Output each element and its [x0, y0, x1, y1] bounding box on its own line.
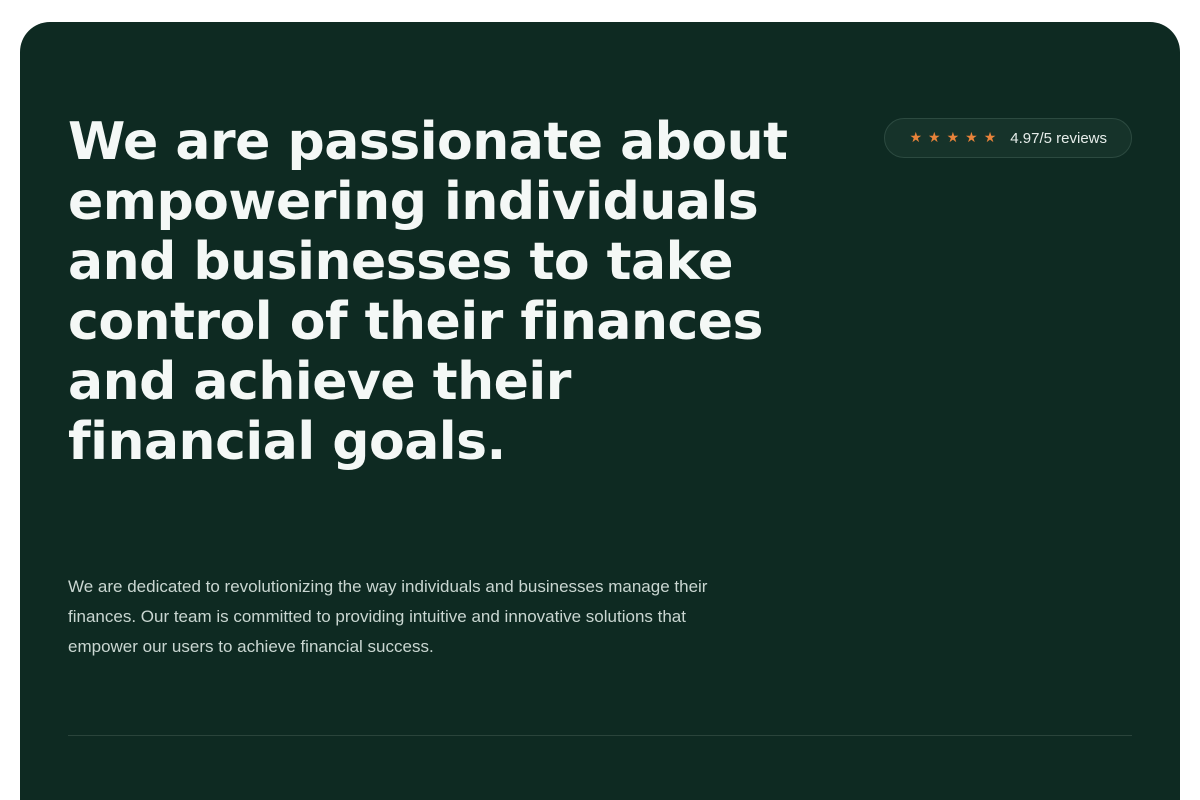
star-rating: ★ ★ ★ ★ ★ — [909, 131, 996, 145]
star-icon: ★ — [928, 131, 941, 145]
rating-label: 4.97/5 reviews — [1010, 131, 1107, 146]
star-icon: ★ — [947, 131, 960, 145]
star-icon: ★ — [984, 131, 997, 145]
rating-badge[interactable]: ★ ★ ★ ★ ★ 4.97/5 reviews — [884, 118, 1132, 158]
hero-card: ★ ★ ★ ★ ★ 4.97/5 reviews We are passiona… — [20, 22, 1180, 800]
page-root: ★ ★ ★ ★ ★ 4.97/5 reviews We are passiona… — [0, 0, 1200, 800]
star-icon: ★ — [965, 131, 978, 145]
page-title: We are passionate about empowering indiv… — [68, 112, 788, 472]
section-divider — [68, 735, 1132, 736]
star-icon: ★ — [909, 131, 922, 145]
hero-description: We are dedicated to revolutionizing the … — [68, 572, 744, 662]
